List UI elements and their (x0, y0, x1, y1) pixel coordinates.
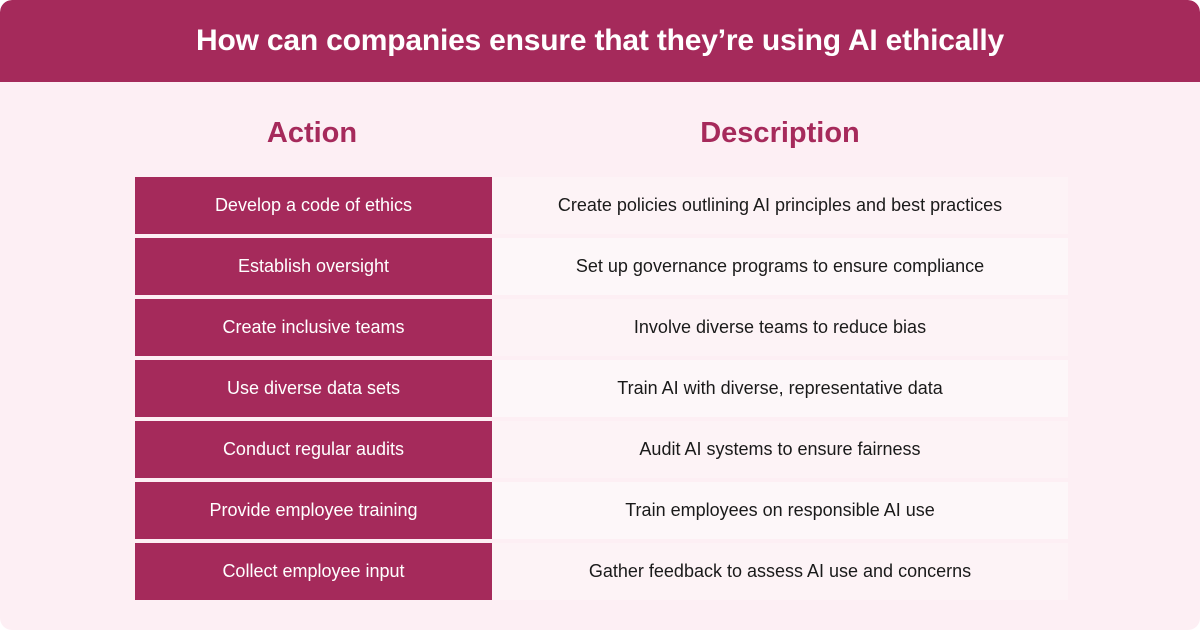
table-row: Create inclusive teams Involve diverse t… (132, 299, 1068, 356)
column-heading-description: Description (492, 108, 1068, 158)
table-row: Develop a code of ethics Create policies… (132, 177, 1068, 234)
column-heading-action: Action (132, 108, 492, 158)
header-band: How can companies ensure that they’re us… (0, 0, 1200, 82)
cell-action: Develop a code of ethics (132, 177, 492, 234)
cell-action: Establish oversight (132, 238, 492, 295)
page-title: How can companies ensure that they’re us… (196, 24, 1004, 58)
cell-description: Set up governance programs to ensure com… (492, 238, 1068, 295)
cell-description: Involve diverse teams to reduce bias (492, 299, 1068, 356)
cell-action: Create inclusive teams (132, 299, 492, 356)
actions-table: Develop a code of ethics Create policies… (132, 177, 1068, 600)
table-row: Collect employee input Gather feedback t… (132, 543, 1068, 600)
cell-action: Collect employee input (132, 543, 492, 600)
cell-action: Provide employee training (132, 482, 492, 539)
table-row: Conduct regular audits Audit AI systems … (132, 421, 1068, 478)
table-row: Use diverse data sets Train AI with dive… (132, 360, 1068, 417)
cell-description: Create policies outlining AI principles … (492, 177, 1068, 234)
table-row: Provide employee training Train employee… (132, 482, 1068, 539)
infographic-card: How can companies ensure that they’re us… (0, 0, 1200, 630)
cell-action: Use diverse data sets (132, 360, 492, 417)
cell-description: Train employees on responsible AI use (492, 482, 1068, 539)
cell-description: Gather feedback to assess AI use and con… (492, 543, 1068, 600)
cell-description: Audit AI systems to ensure fairness (492, 421, 1068, 478)
cell-description: Train AI with diverse, representative da… (492, 360, 1068, 417)
table-row: Establish oversight Set up governance pr… (132, 238, 1068, 295)
cell-action: Conduct regular audits (132, 421, 492, 478)
column-headings-row: Action Description (132, 108, 1068, 158)
